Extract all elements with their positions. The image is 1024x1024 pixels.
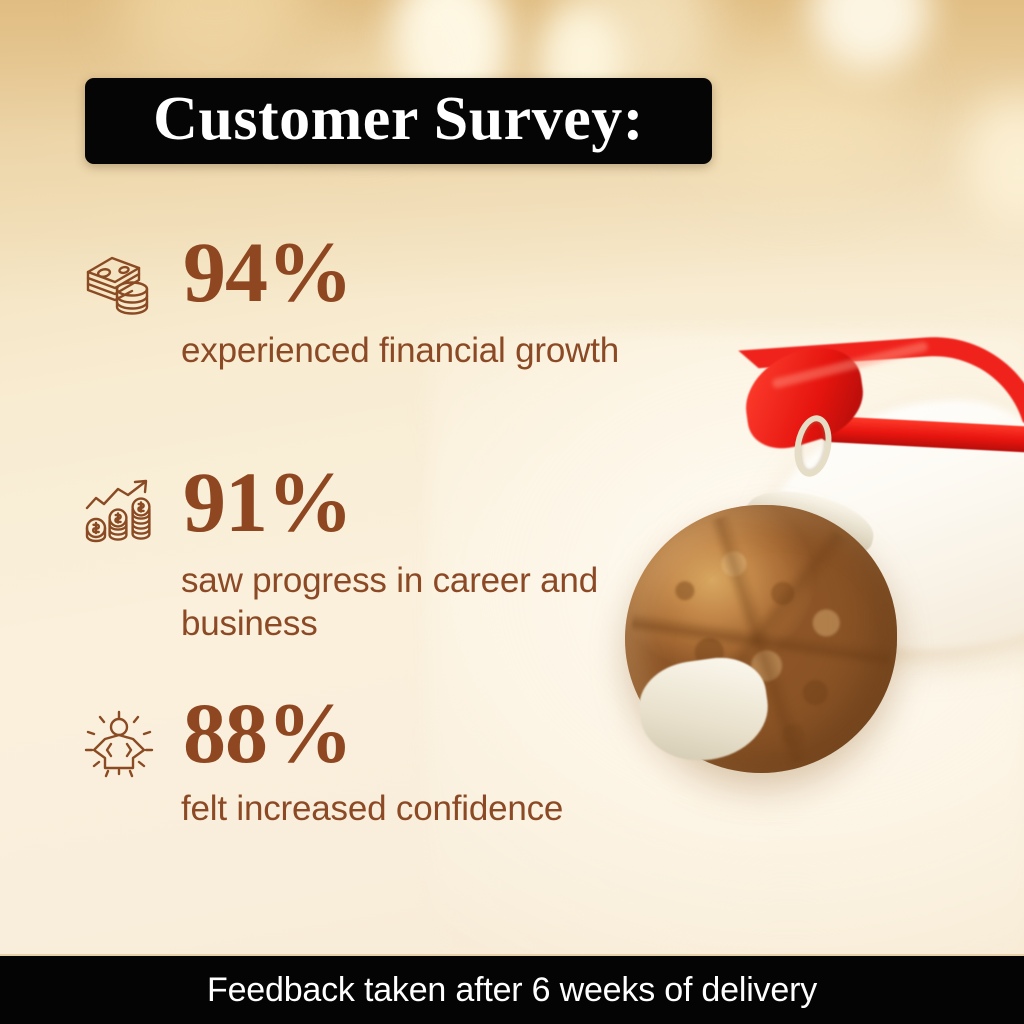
footer-bar: Feedback taken after 6 weeks of delivery xyxy=(0,954,1024,1024)
stat-row: 94% experienced financial growth xyxy=(78,238,698,468)
stats-list: 94% experienced financial growth xyxy=(78,238,698,840)
money-stack-icon xyxy=(82,246,156,320)
stat-row: 91% saw progress in career and business xyxy=(78,468,698,700)
growth-chart-coins-icon xyxy=(82,476,156,550)
page-title: Customer Survey: xyxy=(153,88,644,154)
stat-description: felt increased confidence xyxy=(181,788,741,831)
stat-percent: 94% xyxy=(183,229,352,315)
stat-row: 88% felt increased confidence xyxy=(78,700,698,840)
stat-percent: 88% xyxy=(183,690,352,776)
confident-person-icon xyxy=(82,706,156,780)
footer-note: Feedback taken after 6 weeks of delivery xyxy=(207,971,817,1010)
title-banner: Customer Survey: xyxy=(85,78,712,164)
survey-infographic: Customer Survey: 94% expe xyxy=(0,0,1024,1024)
stat-description: experienced financial growth xyxy=(181,330,741,373)
stat-percent: 91% xyxy=(183,459,352,545)
stat-description: saw progress in career and business xyxy=(181,560,741,645)
